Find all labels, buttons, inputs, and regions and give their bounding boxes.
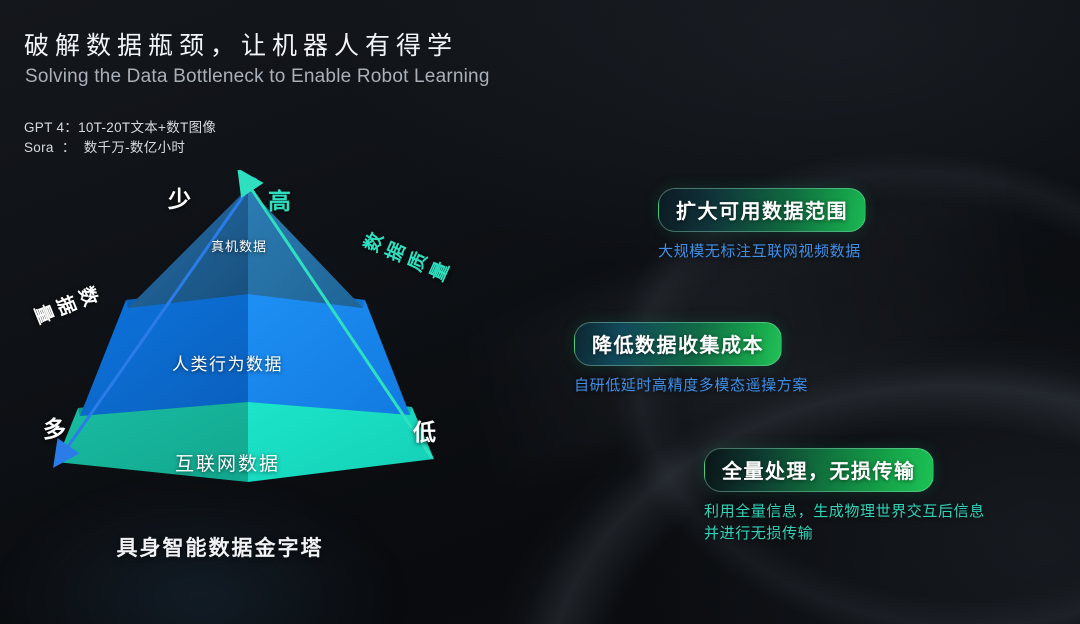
point-title-2: 降低数据收集成本	[574, 322, 782, 366]
pyramid-label-internet: 互联网数据	[175, 449, 280, 476]
pyramid-label-human: 人类行为数据	[172, 350, 283, 375]
background-arc-lower	[393, 250, 1080, 624]
pyramid-label-real-robot: 真机数据	[211, 236, 267, 255]
corpus-scale-note: GPT 4：10T-20T文本+数T图像 Sora ： 数千万-数亿小时	[24, 118, 216, 158]
page-title-en: Solving the Data Bottleneck to Enable Ro…	[25, 66, 490, 88]
point-title-3: 全量处理，无损传输	[704, 448, 934, 492]
point-block-expand-data-range: 扩大可用数据范围 大规模无标注互联网视频数据	[658, 188, 866, 263]
point-subtitle-1: 大规模无标注互联网视频数据	[658, 241, 866, 263]
axis-left-top-word: 少	[168, 180, 193, 214]
point-block-full-volume-lossless: 全量处理，无损传输 利用全量信息，生成物理世界交互后信息 并进行无损传输	[704, 448, 985, 545]
data-pyramid: 真机数据 人类行为数据 互联网数据 少 高 多 低 数据量 数据质量 具身智能数…	[20, 170, 490, 570]
slide-root: 破解数据瓶颈，让机器人有得学 Solving the Data Bottlene…	[0, 0, 1080, 624]
pyramid-caption: 具身智能数据金字塔	[20, 532, 420, 562]
axis-right-bottom-word: 低	[413, 413, 438, 447]
axis-right-top-word: 高	[268, 182, 293, 216]
point-subtitle-2: 自研低延时高精度多模态遥操方案	[574, 375, 808, 397]
page-title-cn: 破解数据瓶颈，让机器人有得学	[24, 26, 458, 62]
point-subtitle-3: 利用全量信息，生成物理世界交互后信息 并进行无损传输	[704, 501, 985, 545]
point-title-1: 扩大可用数据范围	[658, 188, 866, 232]
point-block-reduce-collection-cost: 降低数据收集成本 自研低延时高精度多模态遥操方案	[574, 322, 808, 397]
axis-left-bottom-word: 多	[43, 410, 68, 444]
